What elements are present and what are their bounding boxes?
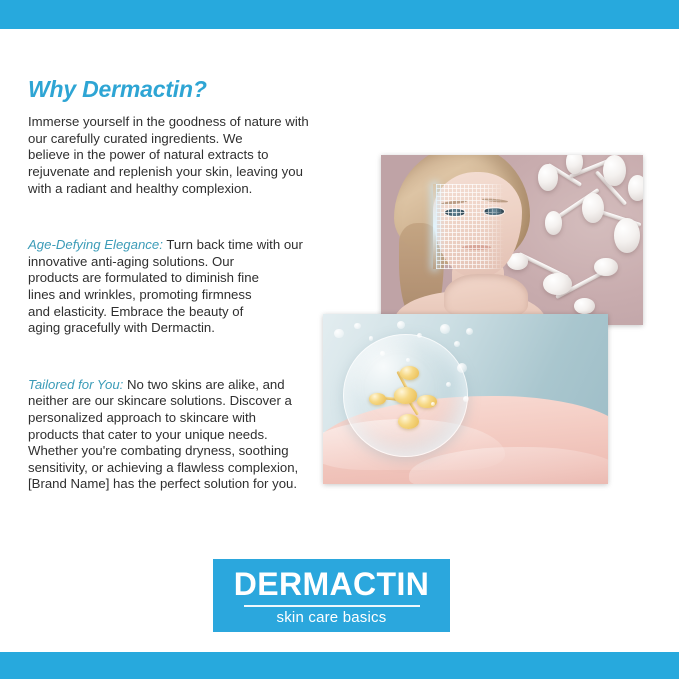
- scan-light-edge: [433, 184, 436, 269]
- brand-wordmark: DERMACTIN: [234, 568, 430, 600]
- paragraph-intro-body: Immerse yourself in the goodness of natu…: [28, 114, 309, 195]
- page-title: Why Dermactin?: [28, 77, 328, 102]
- page-root: { "theme": { "accent_blue": "#27a9dd", "…: [0, 0, 679, 679]
- paragraph-intro: Immerse yourself in the goodness of natu…: [28, 114, 328, 197]
- top-accent-bar: [0, 0, 679, 29]
- brand-tagline: skin care basics: [277, 610, 387, 625]
- paragraph-age-defying: Age-Defying Elegance: Turn back time wit…: [28, 237, 328, 337]
- copy-column: Why Dermactin? Immerse yourself in the g…: [28, 77, 328, 493]
- logo-divider-rule: [244, 605, 420, 606]
- page-canvas: Why Dermactin? Immerse yourself in the g…: [0, 29, 679, 652]
- bubble-field: [323, 314, 608, 484]
- hands-shape: [444, 274, 528, 318]
- paragraph-tailored-lead: Tailored for You:: [28, 377, 123, 392]
- photo-face-molecules: [381, 155, 643, 325]
- brand-logo: DERMACTIN skin care basics: [213, 559, 450, 632]
- bottom-accent-bar: [0, 652, 679, 679]
- photo-serum-sphere: [323, 314, 608, 484]
- paragraph-tailored-body: No two skins are alike, and neither are …: [28, 377, 298, 492]
- paragraph-age-defying-lead: Age-Defying Elegance:: [28, 237, 163, 252]
- molecule-cluster-right: [538, 155, 643, 260]
- paragraph-tailored: Tailored for You: No two skins are alike…: [28, 377, 328, 493]
- skin-analysis-grid-overlay: [436, 184, 504, 269]
